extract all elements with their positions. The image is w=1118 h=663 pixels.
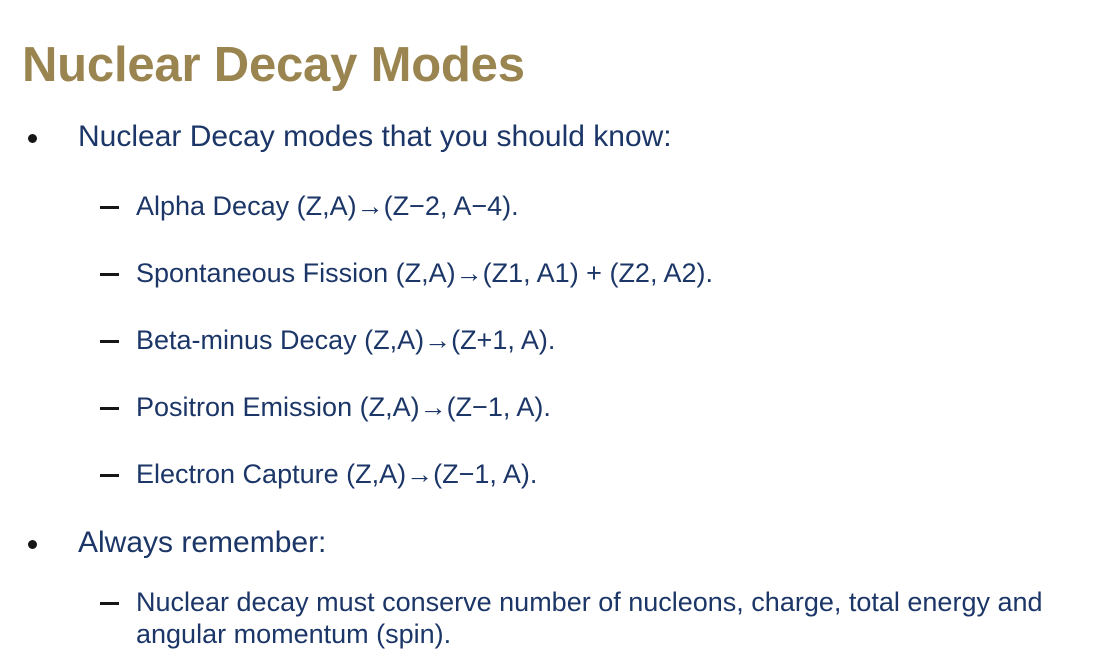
page-title: Nuclear Decay Modes xyxy=(22,39,525,93)
list-item: Spontaneous Fission (Z,A)→(Z1, A1) + (Z2… xyxy=(0,258,1118,290)
list-item-label: Electron Capture (Z,A)→(Z−1, A). xyxy=(136,459,1118,491)
spacer xyxy=(0,290,1118,325)
list-item-label: Always remember: xyxy=(78,528,1118,558)
list-item: Alpha Decay (Z,A)→(Z−2, A−4). xyxy=(0,191,1118,223)
spacer xyxy=(0,156,1118,191)
bullet-dot-icon xyxy=(28,540,37,549)
list-item-label: Beta-minus Decay (Z,A)→(Z+1, A). xyxy=(136,325,1118,357)
spacer xyxy=(0,562,1118,587)
slide-body-list: Nuclear Decay modes that you should know… xyxy=(0,122,1118,651)
spacer xyxy=(0,357,1118,392)
list-item: Nuclear decay must conserve number of nu… xyxy=(0,587,1118,651)
list-item-label: Nuclear Decay modes that you should know… xyxy=(78,122,1118,152)
list-item-label: Alpha Decay (Z,A)→(Z−2, A−4). xyxy=(136,191,1118,223)
list-item: Positron Emission (Z,A)→(Z−1, A). xyxy=(0,392,1118,424)
dash-icon xyxy=(100,474,119,477)
list-item: Nuclear Decay modes that you should know… xyxy=(0,122,1118,156)
list-item-label: Spontaneous Fission (Z,A)→(Z1, A1) + (Z2… xyxy=(136,258,1118,290)
dash-icon xyxy=(100,340,119,343)
list-item-label: Nuclear decay must conserve number of nu… xyxy=(136,587,1099,651)
list-item-label: Positron Emission (Z,A)→(Z−1, A). xyxy=(136,392,1118,424)
list-item: Always remember: xyxy=(0,528,1118,562)
spacer xyxy=(0,491,1118,528)
slide-canvas: Nuclear Decay Modes Nuclear Decay modes … xyxy=(0,0,1118,663)
bullet-dot-icon xyxy=(28,134,37,143)
list-item: Beta-minus Decay (Z,A)→(Z+1, A). xyxy=(0,325,1118,357)
spacer xyxy=(0,223,1118,258)
spacer xyxy=(0,424,1118,459)
dash-icon xyxy=(100,407,119,410)
list-item: Electron Capture (Z,A)→(Z−1, A). xyxy=(0,459,1118,491)
dash-icon xyxy=(100,602,119,605)
dash-icon xyxy=(100,206,119,209)
dash-icon xyxy=(100,273,119,276)
